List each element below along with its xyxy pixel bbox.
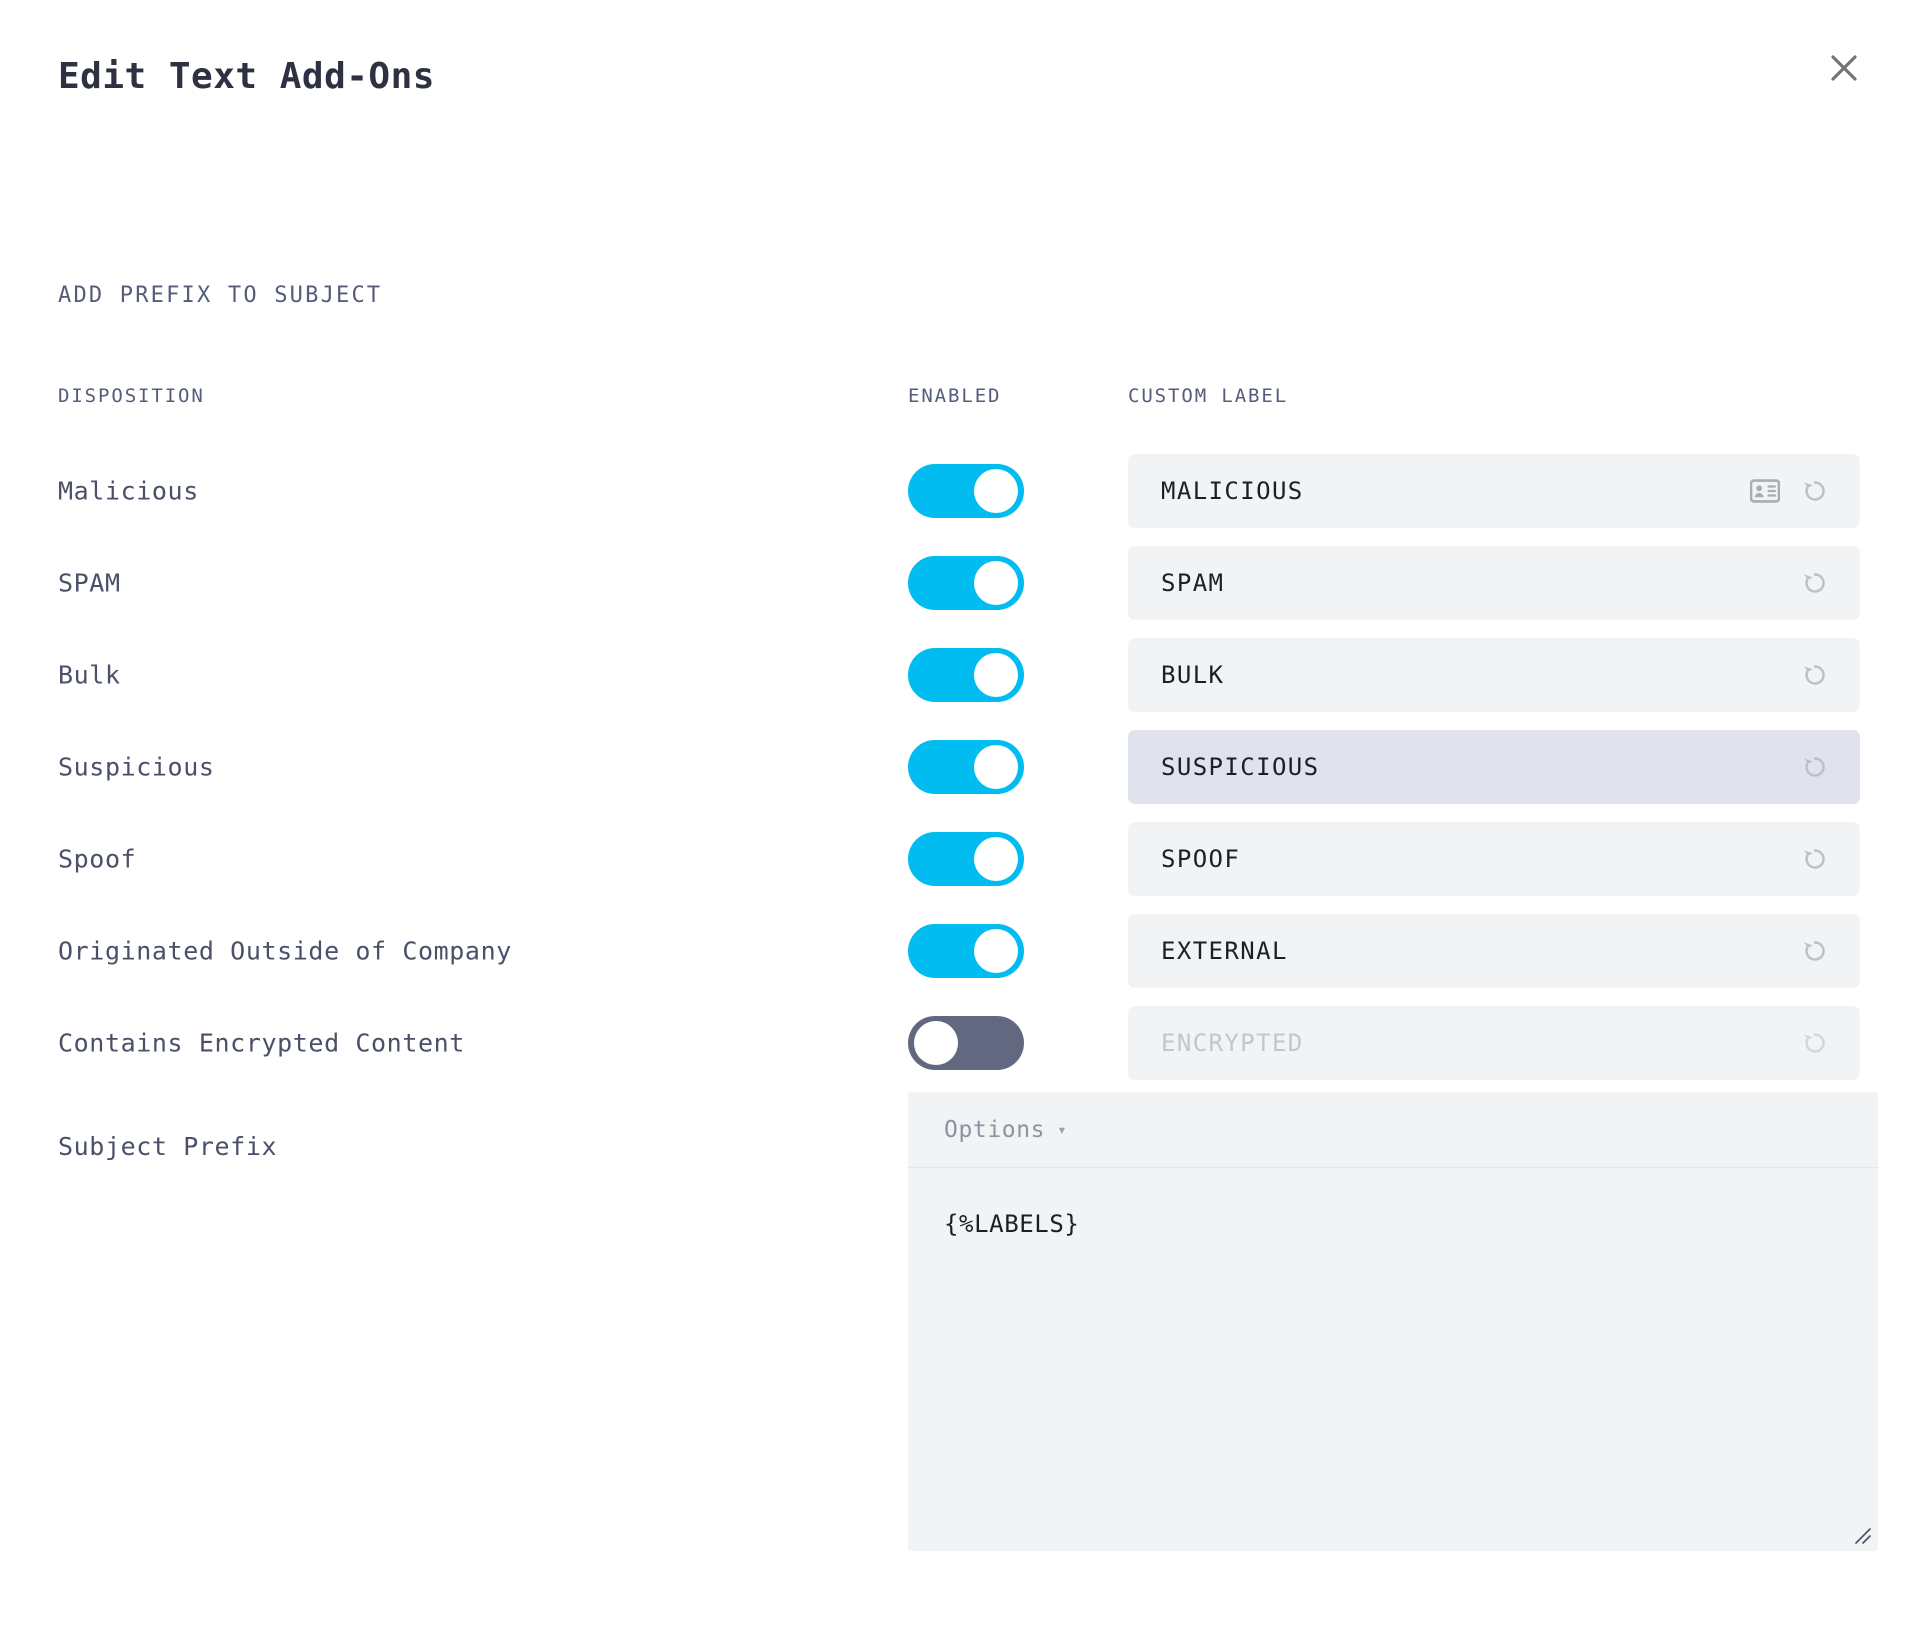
field-icon-group bbox=[1748, 474, 1860, 508]
field-icon-group bbox=[1798, 1026, 1860, 1060]
toggle-knob bbox=[974, 561, 1018, 605]
options-dropdown-button[interactable]: Options ▾ bbox=[944, 1117, 1067, 1143]
column-header-disposition: DISPOSITION bbox=[58, 385, 205, 407]
table-row: MaliciousMALICIOUS bbox=[0, 445, 1908, 537]
toggle-knob bbox=[974, 745, 1018, 789]
table-body: MaliciousMALICIOUSSPAMSPAMBulkBULKSuspic… bbox=[0, 445, 1908, 1089]
reset-icon[interactable] bbox=[1798, 566, 1832, 600]
custom-label-field-contains-encrypted-content: ENCRYPTED bbox=[1128, 1006, 1860, 1080]
custom-label-value-suspicious: SUSPICIOUS bbox=[1128, 753, 1798, 781]
enabled-toggle-spam[interactable] bbox=[908, 556, 1024, 610]
contact-card-icon[interactable] bbox=[1748, 474, 1782, 508]
disposition-label-originated-outside-of-company: Originated Outside of Company bbox=[58, 937, 512, 966]
custom-label-field-spoof[interactable]: SPOOF bbox=[1128, 822, 1860, 896]
disposition-label-spoof: Spoof bbox=[58, 845, 136, 874]
enabled-toggle-bulk[interactable] bbox=[908, 648, 1024, 702]
toggle-knob bbox=[974, 929, 1018, 973]
custom-label-value-spam: SPAM bbox=[1128, 569, 1798, 597]
field-icon-group bbox=[1798, 750, 1860, 784]
custom-label-field-originated-outside-of-company[interactable]: EXTERNAL bbox=[1128, 914, 1860, 988]
toggle-knob bbox=[974, 653, 1018, 697]
field-icon-group bbox=[1798, 566, 1860, 600]
reset-icon[interactable] bbox=[1798, 474, 1832, 508]
options-button-label: Options bbox=[944, 1117, 1045, 1143]
close-button[interactable] bbox=[1816, 40, 1872, 96]
editor-toolbar: Options ▾ bbox=[908, 1092, 1878, 1168]
toggle-knob bbox=[974, 837, 1018, 881]
subject-prefix-editor: Options ▾ {%LABELS} bbox=[908, 1092, 1878, 1551]
toggle-knob bbox=[914, 1021, 958, 1065]
custom-label-value-spoof: SPOOF bbox=[1128, 845, 1798, 873]
table-row: SPAMSPAM bbox=[0, 537, 1908, 629]
enabled-toggle-spoof[interactable] bbox=[908, 832, 1024, 886]
custom-label-field-spam[interactable]: SPAM bbox=[1128, 546, 1860, 620]
column-header-custom-label: CUSTOM LABEL bbox=[1128, 385, 1288, 407]
subject-prefix-label: Subject Prefix bbox=[58, 1132, 277, 1161]
modal-header: Edit Text Add-Ons bbox=[0, 0, 1908, 150]
close-icon bbox=[1829, 53, 1859, 83]
table-row: SpoofSPOOF bbox=[0, 813, 1908, 905]
disposition-label-malicious: Malicious bbox=[58, 477, 199, 506]
resize-handle-icon[interactable] bbox=[1849, 1522, 1871, 1544]
custom-label-field-bulk[interactable]: BULK bbox=[1128, 638, 1860, 712]
field-icon-group bbox=[1798, 658, 1860, 692]
chevron-down-icon: ▾ bbox=[1057, 1122, 1067, 1138]
column-header-enabled: ENABLED bbox=[908, 385, 1001, 407]
table-row: BulkBULK bbox=[0, 629, 1908, 721]
enabled-toggle-suspicious[interactable] bbox=[908, 740, 1024, 794]
reset-icon bbox=[1798, 1026, 1832, 1060]
custom-label-value-contains-encrypted-content: ENCRYPTED bbox=[1128, 1029, 1798, 1057]
subject-prefix-value: {%LABELS} bbox=[944, 1210, 1878, 1238]
enabled-toggle-contains-encrypted-content[interactable] bbox=[908, 1016, 1024, 1070]
disposition-label-bulk: Bulk bbox=[58, 661, 121, 690]
table-row: Originated Outside of CompanyEXTERNAL bbox=[0, 905, 1908, 997]
enabled-toggle-malicious[interactable] bbox=[908, 464, 1024, 518]
table-row: Contains Encrypted ContentENCRYPTED bbox=[0, 997, 1908, 1089]
reset-icon[interactable] bbox=[1798, 842, 1832, 876]
disposition-label-suspicious: Suspicious bbox=[58, 753, 215, 782]
field-icon-group bbox=[1798, 842, 1860, 876]
table-row: SuspiciousSUSPICIOUS bbox=[0, 721, 1908, 813]
disposition-label-spam: SPAM bbox=[58, 569, 121, 598]
custom-label-value-bulk: BULK bbox=[1128, 661, 1798, 689]
custom-label-value-originated-outside-of-company: EXTERNAL bbox=[1128, 937, 1798, 965]
toggle-knob bbox=[974, 469, 1018, 513]
disposition-label-contains-encrypted-content: Contains Encrypted Content bbox=[58, 1029, 465, 1058]
reset-icon[interactable] bbox=[1798, 658, 1832, 692]
custom-label-value-malicious: MALICIOUS bbox=[1128, 477, 1748, 505]
reset-icon[interactable] bbox=[1798, 750, 1832, 784]
page-title: Edit Text Add-Ons bbox=[58, 56, 435, 97]
custom-label-field-malicious[interactable]: MALICIOUS bbox=[1128, 454, 1860, 528]
custom-label-field-suspicious[interactable]: SUSPICIOUS bbox=[1128, 730, 1860, 804]
enabled-toggle-originated-outside-of-company[interactable] bbox=[908, 924, 1024, 978]
field-icon-group bbox=[1798, 934, 1860, 968]
reset-icon[interactable] bbox=[1798, 934, 1832, 968]
subject-prefix-textarea[interactable]: {%LABELS} bbox=[908, 1168, 1878, 1551]
section-label: ADD PREFIX TO SUBJECT bbox=[58, 283, 382, 308]
